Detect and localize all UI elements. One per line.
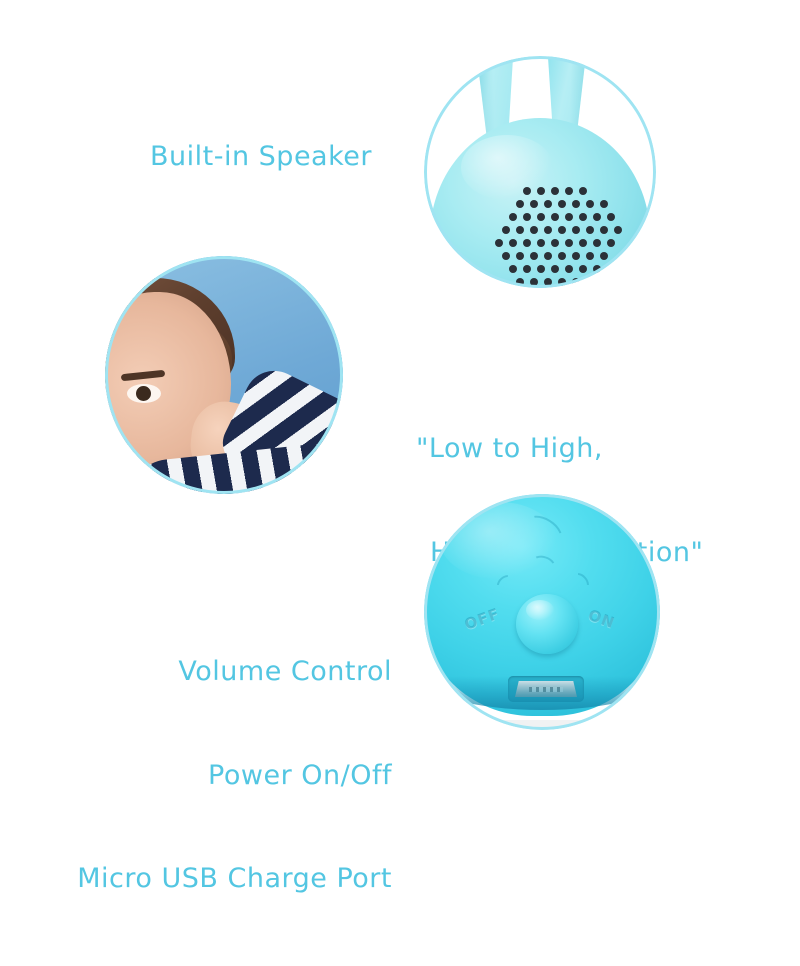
speaker-grille-dot — [565, 239, 573, 247]
photo-speaker-image — [424, 56, 656, 288]
speaker-grille-dot — [530, 252, 538, 260]
speaker-grille-dot — [579, 187, 587, 195]
speaker-grille-dot — [537, 213, 545, 221]
speaker-grille-dot — [572, 200, 580, 208]
speaker-grille-dot — [516, 200, 524, 208]
speaker-grille-dot — [558, 278, 566, 286]
speaker-grille-dot — [516, 278, 524, 286]
base-bottom-edge — [424, 720, 660, 730]
speaker-grille-dot — [593, 213, 601, 221]
speaker-grille-dot — [558, 226, 566, 234]
speaker-grille-dot — [586, 252, 594, 260]
speaker-grille-dot — [565, 265, 573, 273]
product-base-body: OFF ON — [424, 494, 660, 716]
speaker-grille-dot — [544, 200, 552, 208]
speaker-grille-dot — [600, 226, 608, 234]
speaker-grille-dot — [572, 252, 580, 260]
knob-label-on: ON — [586, 606, 618, 632]
speaker-grille-dot — [607, 213, 615, 221]
speaker-grille-dot — [530, 278, 538, 286]
label-built-in-speaker: Built-in Speaker — [150, 140, 372, 175]
speaker-grille-dot — [565, 187, 573, 195]
speaker-grille-dot — [593, 265, 601, 273]
speaker-grille-dot — [516, 252, 524, 260]
speaker-grille-dot — [551, 239, 559, 247]
speaker-grille-dot — [593, 239, 601, 247]
speaker-grille-dot — [523, 213, 531, 221]
speaker-grille-dot — [565, 213, 573, 221]
photo-base-controls: OFF ON — [424, 494, 660, 730]
speaker-grille-dot — [530, 226, 538, 234]
photo-child-image — [105, 256, 343, 494]
quote-line-1: "Low to High, — [416, 432, 703, 467]
label-controls-list: Volume Control Power On/Off Micro USB Ch… — [0, 586, 392, 966]
volume-dial-knob — [516, 594, 578, 654]
infographic-canvas: Built-in Speaker "Low to High, Hearing P… — [0, 0, 800, 800]
speaker-grille-dot — [530, 200, 538, 208]
speaker-grille-dot — [502, 252, 510, 260]
photo-speaker-closeup — [424, 56, 656, 288]
speaker-grille-dot — [551, 187, 559, 195]
speaker-grille-dot — [509, 239, 517, 247]
volume-arc-mark-small-right — [565, 569, 593, 597]
speaker-grille-dot — [523, 265, 531, 273]
speaker-grille-dot — [586, 200, 594, 208]
speaker-grille — [490, 176, 618, 288]
speaker-grille-dot — [551, 213, 559, 221]
photo-child-listening — [105, 256, 343, 494]
speaker-grille-dot — [537, 187, 545, 195]
speaker-grille-dot — [523, 239, 531, 247]
speaker-grille-dot — [537, 265, 545, 273]
speaker-grille-dot — [579, 213, 587, 221]
speaker-grille-dot — [509, 213, 517, 221]
speaker-grille-dot — [551, 265, 559, 273]
base-rim-shadow — [424, 676, 660, 710]
knob-label-off: OFF — [462, 604, 502, 633]
speaker-grille-dot — [579, 239, 587, 247]
speaker-grille-dot — [614, 226, 622, 234]
speaker-grille-dot — [544, 226, 552, 234]
child-eye — [127, 384, 161, 403]
speaker-grille-dot — [544, 278, 552, 286]
speaker-grille-dot — [495, 239, 503, 247]
speaker-grille-dot — [579, 265, 587, 273]
speaker-grille-dot — [600, 252, 608, 260]
speaker-grille-dot — [537, 239, 545, 247]
speaker-grille-dot — [572, 226, 580, 234]
speaker-grille-dot — [586, 278, 594, 286]
speaker-grille-dot — [558, 200, 566, 208]
speaker-grille-dot — [544, 252, 552, 260]
photo-base-image: OFF ON — [424, 494, 660, 730]
speaker-grille-dot — [558, 252, 566, 260]
speaker-grille-dot — [607, 239, 615, 247]
speaker-grille-dot — [586, 226, 594, 234]
speaker-grille-dot — [607, 265, 615, 273]
speaker-grille-dot — [572, 278, 580, 286]
speaker-grille-dot — [516, 226, 524, 234]
speaker-grille-dot — [523, 187, 531, 195]
controls-line-usb: Micro USB Charge Port — [0, 862, 392, 897]
speaker-grille-dot — [502, 226, 510, 234]
speaker-grille-dot — [600, 200, 608, 208]
controls-line-power: Power On/Off — [0, 759, 392, 794]
speaker-grille-dot — [509, 265, 517, 273]
controls-line-volume: Volume Control — [0, 655, 392, 690]
